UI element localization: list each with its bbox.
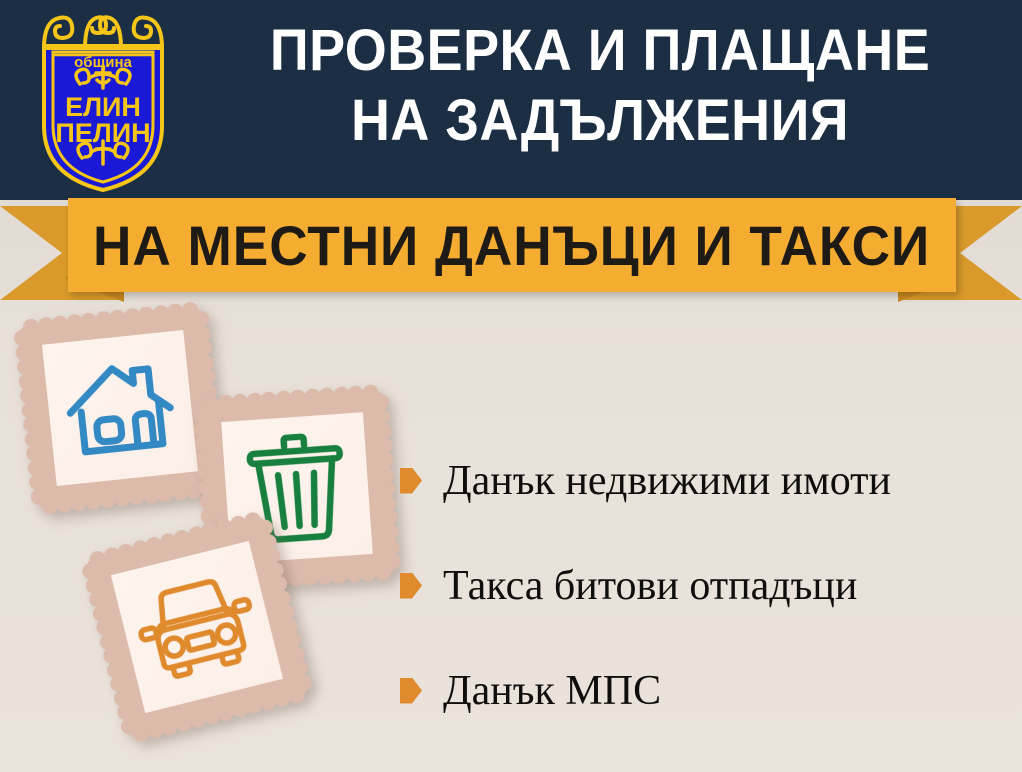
car-front-icon bbox=[129, 568, 266, 686]
coat-of-arms-icon: община ЕЛИН ПЕЛИН bbox=[22, 8, 184, 194]
arrow-bullet-icon bbox=[400, 678, 422, 704]
stamp-scallop bbox=[384, 553, 401, 570]
list-item[interactable]: Данък МПС bbox=[400, 638, 1010, 743]
arrow-bullet-icon bbox=[400, 573, 422, 599]
title-line-2: НА ЗАДЪЛЖЕНИЯ bbox=[217, 86, 983, 156]
house-icon bbox=[59, 352, 181, 463]
page-title: ПРОВЕРКА И ПЛАЩАНЕ НА ЗАДЪЛЖЕНИЯ bbox=[188, 16, 1012, 156]
subtitle-ribbon: НА МЕСТНИ ДАНЪЦИ И ТАКСИ bbox=[0, 198, 1022, 308]
list-item-label: Данък МПС bbox=[443, 670, 661, 712]
stamp-paper bbox=[111, 541, 283, 713]
tax-type-list: Данък недвижими имоти Такса битови отпад… bbox=[400, 428, 1010, 743]
logo-line-top: община bbox=[74, 54, 132, 71]
header-banner: община ЕЛИН ПЕЛИН ПРОВЕРКА И ПЛАЩАНЕ НА … bbox=[0, 0, 1022, 200]
list-item-label: Такса битови отпадъци bbox=[443, 565, 857, 607]
ribbon-band: НА МЕСТНИ ДАНЪЦИ И ТАКСИ bbox=[68, 198, 956, 292]
title-line-1: ПРОВЕРКА И ПЛАЩАНЕ bbox=[217, 16, 983, 86]
list-item-label: Данък недвижими имоти bbox=[443, 460, 891, 502]
arrow-bullet-icon bbox=[400, 468, 422, 494]
ribbon-label: НА МЕСТНИ ДАНЪЦИ И ТАКСИ bbox=[93, 213, 930, 278]
list-item[interactable]: Данък недвижими имоти bbox=[400, 428, 1010, 533]
stamp-paper bbox=[42, 330, 198, 486]
list-item[interactable]: Такса битови отпадъци bbox=[400, 533, 1010, 638]
logo-line-bottom: ПЕЛИН bbox=[55, 118, 150, 148]
stamp-card-vehicle bbox=[88, 518, 306, 736]
stamp-card-property bbox=[21, 309, 219, 507]
municipality-logo: община ЕЛИН ПЕЛИН bbox=[22, 8, 184, 194]
poster-root: община ЕЛИН ПЕЛИН ПРОВЕРКА И ПЛАЩАНЕ НА … bbox=[0, 0, 1022, 772]
